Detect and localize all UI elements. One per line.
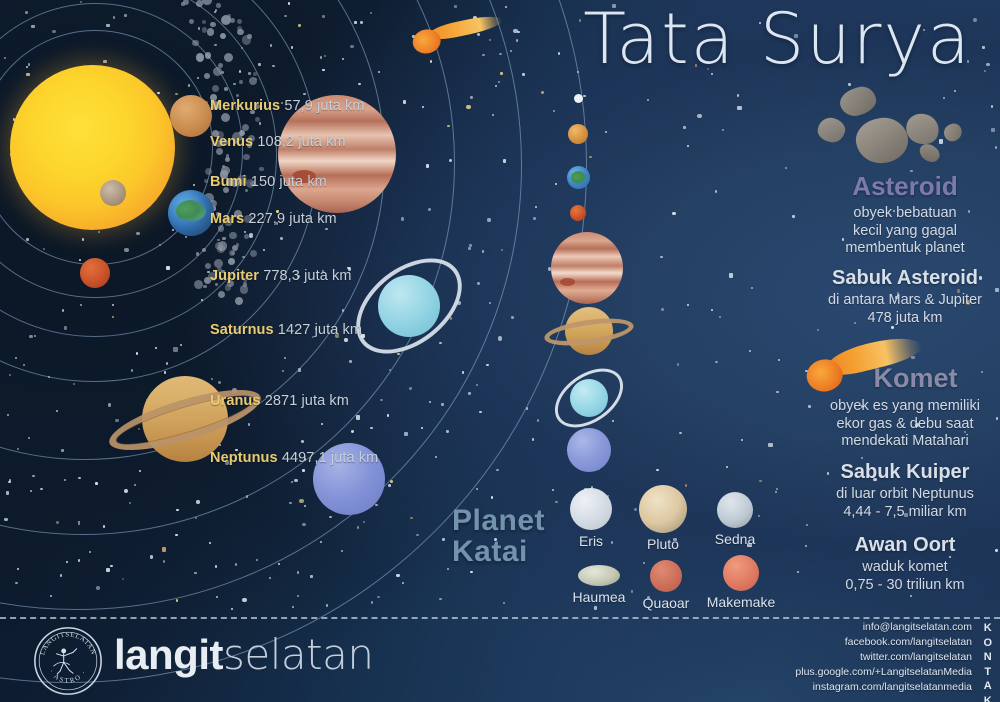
kontak-letter: N — [980, 650, 996, 665]
asteroid-description-line: kecil yang gagal — [810, 223, 1000, 241]
planet-distance: 57,9 juta km — [284, 98, 364, 114]
planet-name: Saturnus — [210, 322, 274, 338]
star — [656, 469, 658, 471]
star — [775, 491, 777, 493]
star — [785, 167, 787, 169]
kontak-letter: A — [980, 679, 996, 694]
dwarf-planet-label: Sedna — [706, 531, 764, 547]
star — [749, 350, 751, 352]
contact-email[interactable]: info@langitselatan.com — [742, 620, 972, 635]
star — [503, 602, 505, 604]
dwarf-planet-body — [717, 492, 753, 528]
star — [677, 363, 679, 365]
star — [805, 545, 807, 547]
asteroid-rock — [854, 115, 910, 165]
star — [476, 488, 478, 490]
asteroid-description-line: membentuk planet — [810, 240, 1000, 258]
asteroid-description-line: obyek bebatuan — [810, 205, 1000, 223]
sabuk-kuiper-description: di luar orbit Neptunus 4,44 - 7,5 miliar… — [805, 486, 1000, 521]
star — [470, 571, 472, 573]
star — [594, 606, 597, 609]
diagram-earth-landmass — [176, 200, 206, 222]
planet-distance: 150 juta km — [251, 174, 327, 190]
star — [496, 469, 498, 471]
dwarf-planet-label: Haumea — [563, 589, 635, 605]
star — [661, 308, 663, 310]
star — [396, 574, 399, 577]
asteroid-description: obyek bebatuan kecil yang gagal membentu… — [810, 205, 1000, 258]
star — [715, 361, 717, 363]
star — [612, 420, 614, 422]
star — [532, 438, 534, 440]
planet-name: Mars — [210, 211, 244, 227]
star — [537, 419, 539, 421]
dwarf-planet-label: Eris — [561, 533, 621, 549]
planet-name: Uranus — [210, 393, 261, 409]
star — [848, 83, 850, 85]
star — [377, 596, 379, 598]
star — [722, 129, 724, 131]
star — [741, 439, 743, 441]
star — [910, 595, 912, 597]
sabuk-kuiper-description-line: 4,44 - 7,5 miliar km — [805, 504, 1000, 522]
planet-name: Bumi — [210, 174, 247, 190]
star — [768, 443, 773, 448]
star — [679, 432, 681, 434]
star — [778, 359, 780, 361]
star — [583, 95, 585, 97]
kontak-letter: T — [980, 665, 996, 680]
dwarf-planet-sedna: Sedna — [706, 492, 764, 547]
contact-list: info@langitselatan.com facebook.com/lang… — [742, 620, 972, 695]
sabuk-asteroid-description-line: di antara Mars & Jupiter — [805, 292, 1000, 310]
solar-system-infographic: Tata Surya Merkurius 57,9 juta km Venus … — [0, 0, 1000, 702]
star — [491, 496, 493, 498]
komet-description-line: obyek es yang memiliki — [805, 398, 1000, 416]
dwarf-planets-heading: Planet Katai — [452, 505, 562, 567]
awan-oort-description-line: waduk komet — [805, 559, 1000, 577]
dwarf-planet-body — [570, 488, 612, 530]
star — [683, 126, 685, 128]
planet-distance: 2871 juta km — [265, 393, 349, 409]
brand-wordmark: langitselatan — [114, 634, 373, 676]
sabuk-asteroid-heading: Sabuk Asteroid — [810, 267, 1000, 290]
komet-description-line: ekor gas & debu saat — [805, 416, 1000, 434]
star — [715, 190, 717, 192]
asteroid-heading: Asteroid — [810, 173, 1000, 200]
sabuk-asteroid-description-line: 478 juta km — [805, 310, 1000, 328]
star — [447, 568, 449, 570]
star — [552, 489, 554, 491]
asteroid-rock — [816, 115, 847, 144]
planet-distance: 227,9 juta km — [248, 211, 336, 227]
planet-name: Neptunus — [210, 450, 278, 466]
komet-description-line: mendekati Matahari — [805, 433, 1000, 451]
dwarf-planet-body — [578, 565, 620, 586]
dwarf-planet-eris: Eris — [561, 488, 621, 549]
star — [726, 466, 728, 468]
star — [660, 256, 662, 258]
planet-name: Venus — [210, 134, 253, 150]
star — [797, 571, 799, 573]
star — [697, 114, 702, 119]
star — [442, 538, 444, 540]
planet-distance: 778,3 juta km — [263, 268, 351, 284]
kontak-letter: O — [980, 636, 996, 651]
kontak-letter: K — [980, 694, 996, 702]
star — [687, 304, 689, 306]
awan-oort-description-line: 0,75 - 30 triliun km — [805, 577, 1000, 595]
contact-twitter[interactable]: twitter.com/langitselatan — [742, 650, 972, 665]
dwarf-planet-quaoar: Quaoar — [633, 560, 699, 611]
star — [555, 501, 557, 503]
kontak-letter: K — [980, 621, 996, 636]
planet-name: Jupiter — [210, 268, 259, 284]
komet-description: obyek es yang memiliki ekor gas & debu s… — [805, 398, 1000, 451]
planet-distance: 108,2 juta km — [257, 134, 345, 150]
star — [737, 94, 739, 96]
kontak-vertical-label: KONTAK — [980, 621, 996, 702]
sabuk-kuiper-heading: Sabuk Kuiper — [810, 461, 1000, 484]
star — [806, 524, 808, 526]
star — [439, 598, 441, 600]
asteroid-rock — [902, 109, 943, 148]
footer-divider — [0, 617, 1000, 619]
contact-googleplus[interactable]: plus.google.com/+LangitselatanMedia — [742, 665, 972, 680]
star — [776, 488, 778, 490]
diagram-planet-mercury — [100, 180, 126, 206]
dwarf-planet-pluto: Pluto — [630, 485, 696, 552]
dwarf-planet-body — [639, 485, 687, 533]
page-title: Tata Surya — [565, 4, 990, 74]
dwarf-planet-haumea: Haumea — [563, 565, 635, 605]
contact-facebook[interactable]: facebook.com/langitselatan — [742, 635, 972, 650]
komet-heading: Komet — [828, 364, 1000, 392]
brand-bold: langit — [114, 631, 223, 678]
dwarf-planet-body — [723, 555, 759, 591]
star — [751, 287, 753, 289]
dwarf-planet-body — [650, 560, 682, 592]
star — [759, 480, 761, 482]
sun — [10, 65, 175, 230]
diagram-planet-mars — [80, 258, 110, 288]
star — [371, 601, 373, 603]
star — [589, 156, 591, 158]
star — [402, 582, 404, 584]
langitselatan-logo-icon: LANGITSELATAN · ASTRO · — [32, 625, 104, 697]
contact-instagram[interactable]: instagram.com/langitselatanmedia — [742, 680, 972, 695]
dwarf-planet-label: Pluto — [630, 536, 696, 552]
sabuk-asteroid-description: di antara Mars & Jupiter 478 juta km — [805, 292, 1000, 327]
sabuk-kuiper-description-line: di luar orbit Neptunus — [805, 486, 1000, 504]
dwarf-planet-label: Makemake — [703, 594, 779, 610]
star — [719, 316, 721, 318]
dwarf-planets-heading-line1: Planet — [452, 505, 562, 536]
asteroid-rock — [941, 121, 964, 144]
dwarf-planet-makemake: Makemake — [703, 555, 779, 610]
brand-light: selatan — [223, 630, 373, 679]
awan-oort-heading: Awan Oort — [810, 534, 1000, 557]
star — [711, 309, 713, 311]
awan-oort-description: waduk komet 0,75 - 30 triliun km — [805, 559, 1000, 594]
dwarf-planets-heading-line2: Katai — [452, 536, 562, 567]
planet-distance: 1427 juta km — [278, 322, 362, 338]
diagram-planet-venus — [170, 95, 212, 137]
planet-distance: 4497,1 juta km — [282, 450, 379, 466]
svg-text:· ASTRO ·: · ASTRO · — [47, 669, 88, 685]
asteroid-rock — [837, 83, 880, 120]
asteroid-cluster — [818, 88, 993, 173]
planet-name: Merkurius — [210, 98, 280, 114]
dwarf-planet-label: Quaoar — [633, 595, 699, 611]
